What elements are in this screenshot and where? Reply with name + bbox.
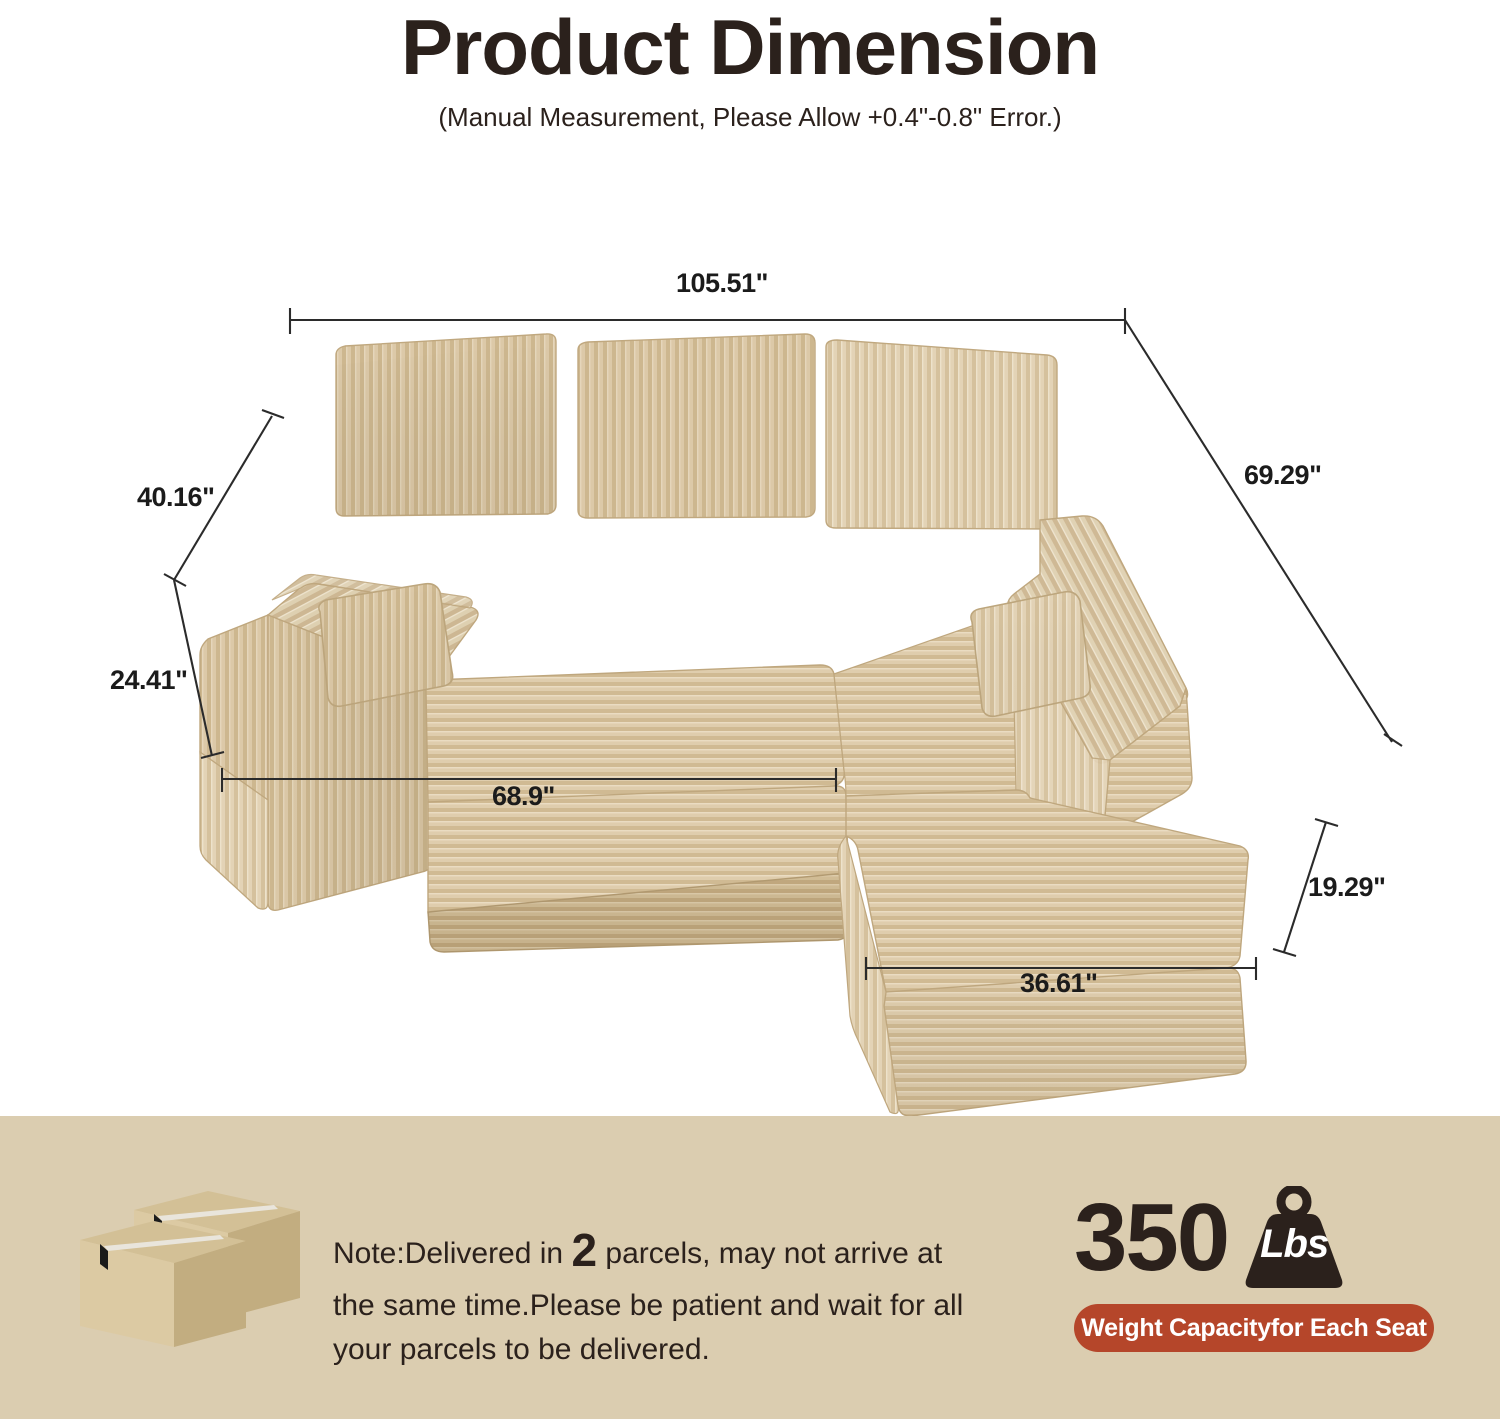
weight-capacity-block: 350 Lbs Weight Capacityfor Each Seat (1074, 1182, 1454, 1352)
back-cushion-middle (578, 334, 815, 518)
dim-label-overall-depth: 69.29" (1244, 460, 1321, 491)
shipping-banner: Note:Delivered in 2 parcels, may not arr… (0, 1116, 1500, 1419)
product-dimension-infographic: Product Dimension (Manual Measurement, P… (0, 0, 1500, 1419)
weight-unit-label: Lbs (1238, 1222, 1350, 1267)
weight-icon: Lbs (1238, 1186, 1350, 1290)
page-title: Product Dimension (0, 8, 1500, 86)
parcel-boxes-icon (62, 1178, 322, 1363)
header: Product Dimension (Manual Measurement, P… (0, 0, 1500, 133)
note-parcel-count: 2 (571, 1224, 597, 1276)
delivery-note: Note:Delivered in 2 parcels, may not arr… (333, 1216, 973, 1373)
dim-label-overall-width: 105.51" (676, 268, 768, 299)
dim-label-chaise-width: 36.61" (1020, 968, 1097, 999)
weight-capacity-badge: Weight Capacityfor Each Seat (1074, 1304, 1434, 1352)
note-before: Note:Delivered in (333, 1237, 563, 1270)
dim-label-sofa-width: 68.9" (492, 781, 555, 812)
dimension-diagram: 105.51" 69.29" 40.16" 24.41" 68.9" 36.61… (0, 160, 1500, 1116)
page-subtitle: (Manual Measurement, Please Allow +0.4"-… (0, 102, 1500, 133)
dim-label-chaise-height: 19.29" (1308, 872, 1385, 903)
dim-label-overall-height: 40.16" (137, 482, 214, 513)
box-front (80, 1221, 246, 1347)
sofa-illustration (0, 160, 1500, 1116)
back-cushion-right (826, 340, 1057, 529)
weight-capacity-value: 350 (1074, 1190, 1228, 1286)
dim-label-seat-height: 24.41" (110, 665, 187, 696)
